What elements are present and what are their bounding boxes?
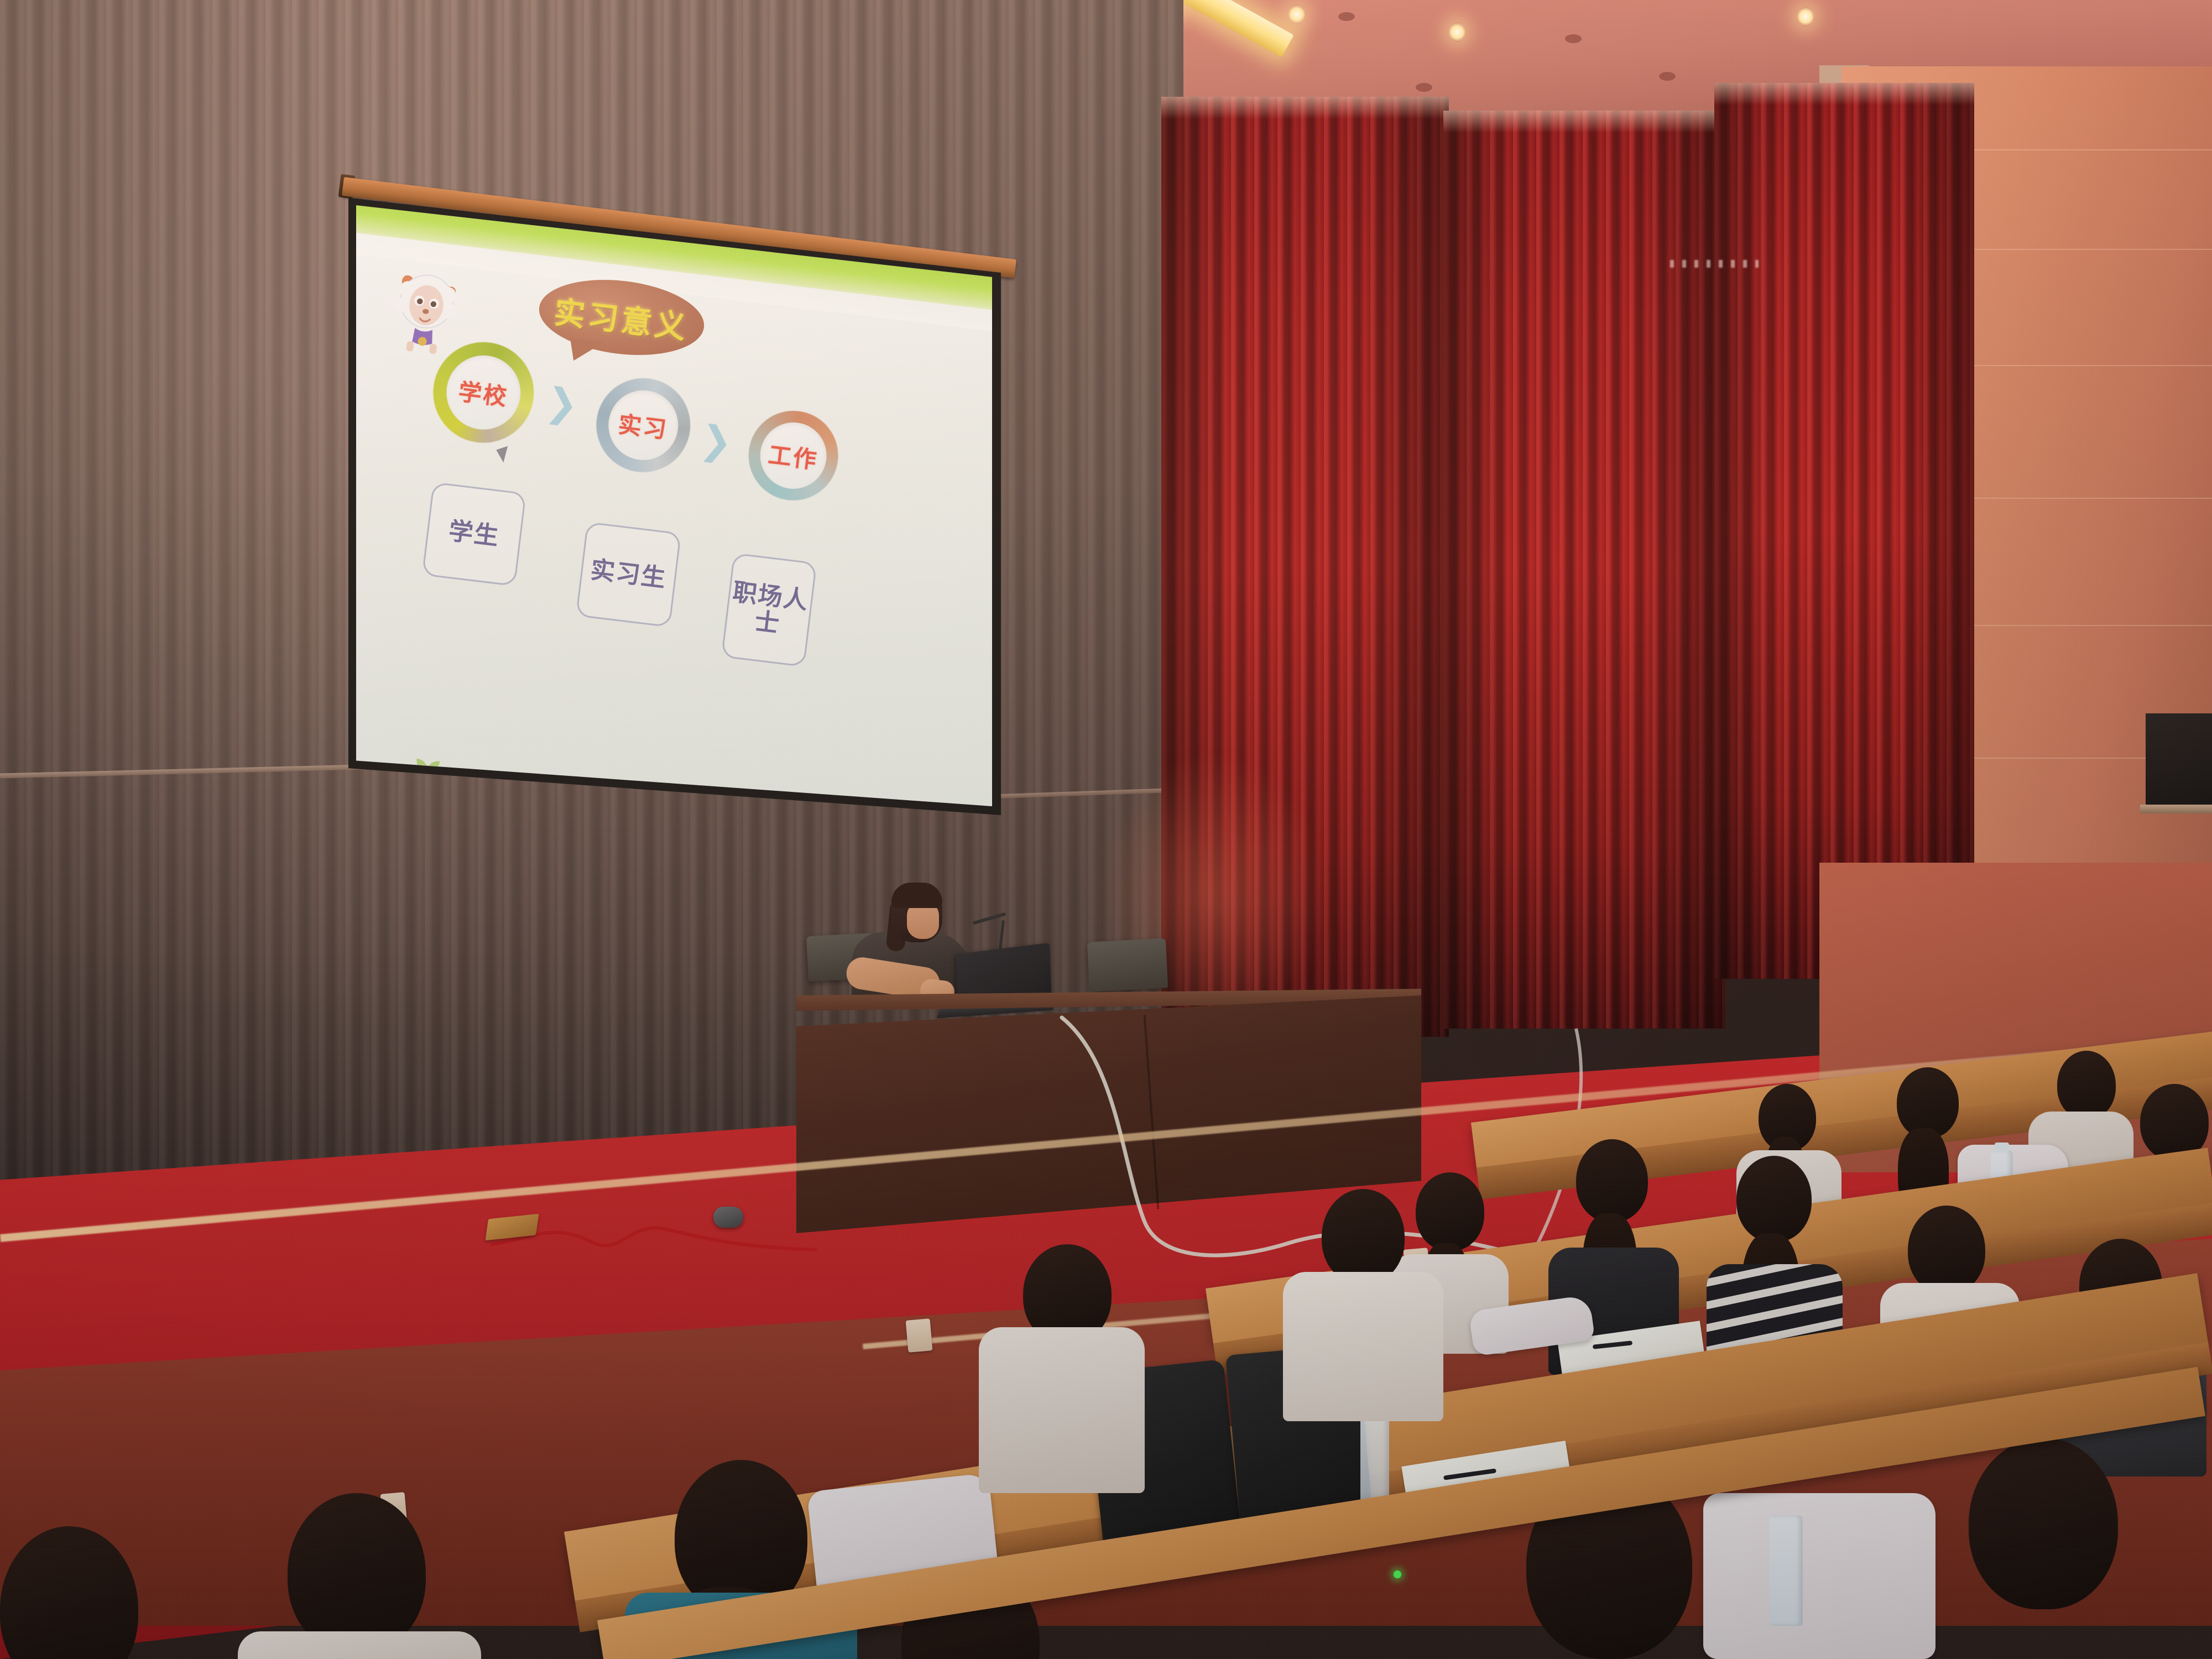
ceiling-spot-light bbox=[1449, 22, 1465, 42]
audience-head bbox=[1416, 1172, 1484, 1251]
audience-torso bbox=[979, 1327, 1145, 1493]
audience-head bbox=[1897, 1067, 1959, 1138]
chevron-right-icon: ❯ bbox=[543, 379, 581, 427]
wall-shelf bbox=[2140, 805, 2212, 813]
flow-node-school: 学校 bbox=[427, 336, 540, 448]
audience-torso bbox=[238, 1631, 481, 1659]
ceiling-vent bbox=[1659, 72, 1676, 81]
floor-device bbox=[713, 1207, 743, 1228]
wall-power-outlet[interactable] bbox=[906, 1318, 933, 1353]
ceiling-spot-light bbox=[1797, 7, 1814, 27]
audience-head bbox=[1969, 1438, 2118, 1609]
audience-head bbox=[288, 1493, 426, 1653]
audience-head bbox=[1908, 1206, 1985, 1294]
slide-ground-band bbox=[356, 787, 992, 806]
audience-head bbox=[1736, 1156, 1812, 1242]
flow-node-label: 实习 bbox=[617, 405, 670, 445]
ceiling-spot-light bbox=[1288, 4, 1305, 24]
presenter-hair bbox=[891, 883, 942, 908]
red-stage-curtain bbox=[1714, 83, 1974, 979]
curtain-reflection bbox=[1670, 260, 1759, 268]
chevron-right-icon: ❯ bbox=[697, 416, 735, 465]
audience-head bbox=[2057, 1051, 2116, 1119]
auditorium-scene: 实习意义 学校 ❯ 实习 ❯ 工作 bbox=[0, 0, 2212, 1659]
stage-chair bbox=[1087, 938, 1168, 992]
projection-screen: 实习意义 学校 ❯ 实习 ❯ 工作 bbox=[332, 166, 1062, 852]
led-indicator bbox=[1394, 1571, 1401, 1578]
role-box-student: 学生 bbox=[422, 482, 526, 586]
screen-surface: 实习意义 学校 ❯ 实习 ❯ 工作 bbox=[348, 190, 1001, 815]
presentation-slide: 实习意义 学校 ❯ 实习 ❯ 工作 bbox=[356, 198, 992, 806]
desk-jacket bbox=[1703, 1493, 1936, 1659]
sprout-icon bbox=[409, 750, 445, 792]
flow-node-label: 工作 bbox=[766, 436, 820, 475]
ceiling-vent bbox=[1338, 12, 1355, 21]
audience-head bbox=[1322, 1189, 1405, 1284]
role-box-intern: 实习生 bbox=[576, 521, 681, 627]
audience-torso bbox=[1283, 1272, 1443, 1421]
flow-node-work: 工作 bbox=[744, 406, 843, 505]
flow-node-internship: 实习 bbox=[591, 373, 696, 477]
red-stage-curtain bbox=[1443, 111, 1725, 1029]
ceiling-vent bbox=[1565, 34, 1582, 43]
wall-equipment-box bbox=[2146, 713, 2212, 813]
role-box-professional: 职场人士 bbox=[721, 553, 817, 667]
audience-head bbox=[1576, 1139, 1648, 1222]
bottle-cap bbox=[1995, 1142, 2009, 1152]
flow-node-label: 学校 bbox=[457, 373, 510, 412]
ceiling-vent bbox=[1416, 83, 1432, 92]
water-bottle bbox=[1770, 1515, 1803, 1626]
